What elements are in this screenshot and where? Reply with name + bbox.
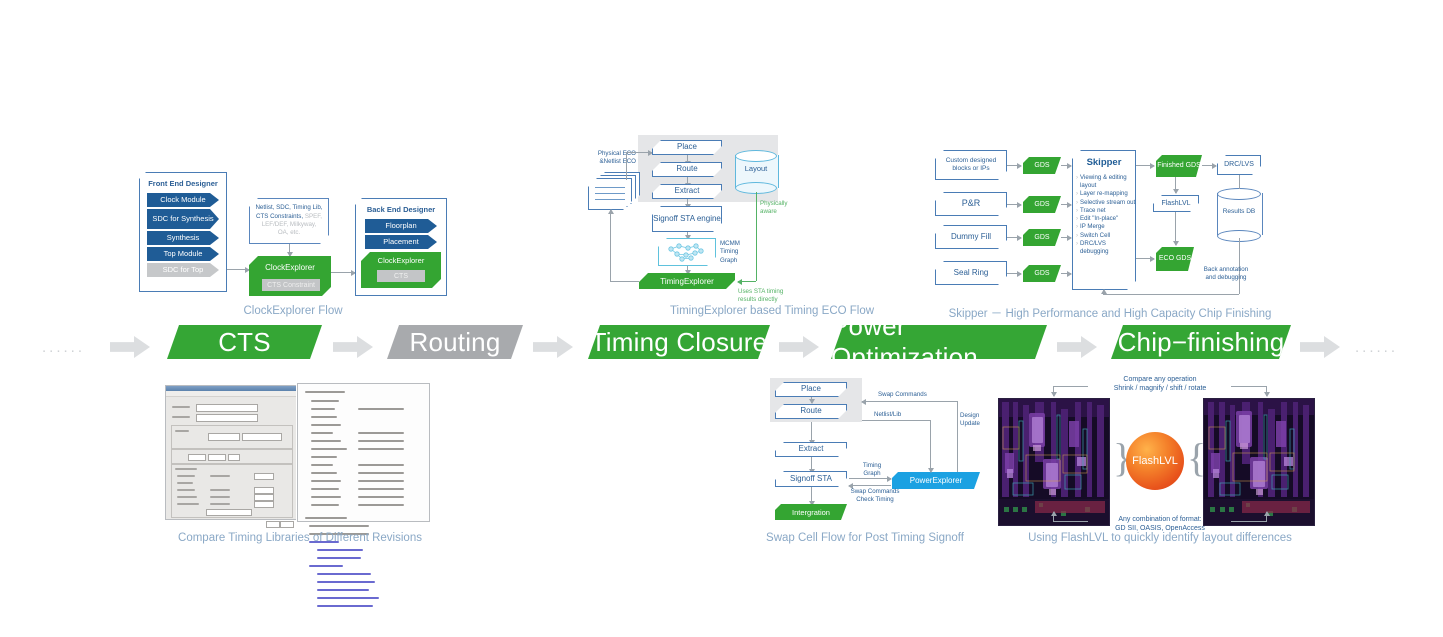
flashlvl-bottom-note: Any combination of format: GD SII, OASIS… <box>1080 516 1240 534</box>
connector-gds2-skipper <box>1061 204 1071 205</box>
step-arrow-2 <box>533 336 573 358</box>
clockexplorer-cts-constraint-label: CTS Constraint <box>267 282 315 289</box>
connector-sta-graph <box>687 232 688 239</box>
stage-route[interactable]: Route <box>652 162 722 177</box>
flashlvl-top-note-l1: Compare any operation <box>1123 376 1196 383</box>
banner-step-power-optimization[interactable]: Power Optimization <box>831 325 1047 359</box>
connector-src1-gds <box>1007 165 1021 166</box>
layout-database: Layout <box>735 150 777 192</box>
step-arrow-5 <box>1300 336 1340 358</box>
back-annotation-note: Back annotationand debugging <box>1191 266 1261 282</box>
connector-bottom-h2 <box>1231 521 1266 522</box>
bullet-icon: › <box>1076 223 1078 231</box>
skipper-flow: Custom designed blocks or IPs P&R Dummy … <box>935 148 1260 298</box>
eco-gds-block[interactable]: ECO GDS <box>1156 247 1194 271</box>
clockexplorer-tool-label: ClockExplorer <box>249 263 331 272</box>
swap-integration-label: Intergration <box>792 508 830 517</box>
connector-swap-extract-sta <box>811 457 812 473</box>
front-end-item-top-module[interactable]: Top Module <box>147 247 219 261</box>
swap-stage-route[interactable]: Route <box>775 404 847 419</box>
skipper-caption: Skipper － High Performance and High Capa… <box>900 305 1320 321</box>
powerexplorer-block[interactable]: PowerExplorer <box>892 472 980 489</box>
diagram-canvas: Front End Designer Clock Module SDC for … <box>0 0 1443 637</box>
swap-cell-flow: Place Route Extract Signoff STA Intergra… <box>770 378 985 528</box>
flashlvl-caption: Using FlashLVL to quickly identify layou… <box>1000 532 1320 544</box>
back-end-designer-title: Back End Designer <box>355 205 447 214</box>
connector-netlistlib-down <box>930 462 931 472</box>
flashlvl-compare: Compare any operation Shrink / magnify /… <box>995 376 1315 526</box>
gds-label: GDS <box>1034 270 1049 277</box>
connector-finished-drclvs <box>1202 165 1216 166</box>
swap-stage-place[interactable]: Place <box>775 382 847 397</box>
bullet-icon: › <box>1076 232 1078 240</box>
bullet-icon: › <box>1076 199 1078 207</box>
connector-gds1-skipper <box>1061 165 1071 166</box>
stage-extract[interactable]: Extract <box>652 184 722 199</box>
swap-stage-label: Place <box>801 385 821 393</box>
skipper-feature-list: ›Viewing & editing layout ›Layer re-mapp… <box>1076 174 1136 256</box>
skipper-feature: Selective stream out <box>1080 199 1135 207</box>
stage-place[interactable]: Place <box>652 140 722 155</box>
bullet-icon: › <box>1076 207 1078 215</box>
swap-cell-caption: Swap Cell Flow for Post Timing Signoff <box>720 532 1010 544</box>
clockexplorer-cts-constraint: CTS Constraint <box>262 279 320 291</box>
clockexplorer-tool-block[interactable]: ClockExplorer CTS Constraint <box>249 256 331 296</box>
label-swap-commands: Swap Commands <box>878 391 927 398</box>
mcmm-timing-graph-label: MCMM Timing Graph <box>720 240 740 265</box>
connector-netlistlib-h <box>862 420 930 421</box>
connector-feedback-h <box>610 281 639 282</box>
bullet-icon: › <box>1076 190 1078 198</box>
layout-db-label: Layout <box>735 164 777 173</box>
connector-drclvs-db <box>1239 175 1240 189</box>
signoff-sta-label: Signoff STA engine <box>653 214 721 223</box>
connector-inputs-to-tool <box>289 244 290 256</box>
gds-block-3[interactable]: GDS <box>1023 229 1061 246</box>
swap-stage-extract[interactable]: Extract <box>775 442 847 457</box>
eco-docs-lines <box>595 187 625 200</box>
connector-skipper-finished <box>1136 165 1154 166</box>
skipper-source-label: Seal Ring <box>954 269 989 277</box>
flashlvl-top-note: Compare any operation Shrink / magnify /… <box>1080 376 1240 394</box>
mcmm-line-1: MCMM <box>720 240 740 247</box>
flashlvl-bottom-note-l2: GD SII, OASIS, OpenAccess <box>1115 525 1205 532</box>
back-end-item-floorplan[interactable]: Floorplan <box>365 219 437 233</box>
data-inputs-strong: Netlist, SDC, Timing Lib, <box>255 204 322 211</box>
banner-step-cts[interactable]: CTS <box>167 325 322 359</box>
connector-flashlvl-eco <box>1175 212 1176 245</box>
connector-bottom-right-up <box>1266 512 1267 522</box>
library-compare-dialog-screenshot[interactable] <box>165 385 299 520</box>
connector-designupdate-h <box>862 401 957 402</box>
front-end-item-label: SDC for Top <box>163 266 204 274</box>
back-end-tool-label: ClockExplorer <box>361 256 441 265</box>
step-arrow-1 <box>333 336 373 358</box>
swap-stage-label: Route <box>800 407 821 415</box>
swap-stage-label: Signoff STA <box>790 475 832 483</box>
gds-block-2[interactable]: GDS <box>1023 196 1061 213</box>
back-end-item-label: Floorplan <box>385 222 416 230</box>
connector-src2-gds <box>1007 204 1021 205</box>
results-db: Results DB <box>1217 188 1261 240</box>
connector-skipper-eco <box>1136 258 1154 259</box>
connector-sta-to-power <box>849 478 891 479</box>
finished-gds-label: Finished GDS <box>1157 162 1201 170</box>
back-end-cts-label: CTS <box>394 273 408 280</box>
note-uses-sta: Uses STA timingresults directly <box>738 288 798 304</box>
front-end-item-label: SDC for Synthesis <box>152 215 213 223</box>
connector-top-right-down <box>1266 386 1267 396</box>
connector-gds4-skipper <box>1061 273 1071 274</box>
layout-left-render <box>999 399 1109 525</box>
back-end-item-placement[interactable]: Placement <box>365 235 437 249</box>
layout-image-right[interactable] <box>1203 398 1315 526</box>
connector-swap-cmd-arrow <box>862 401 863 402</box>
back-end-cts-chip: CTS <box>377 270 425 282</box>
flashlvl-ball[interactable]: FlashLVL <box>1126 432 1184 490</box>
skipper-feature: Trace net <box>1080 207 1106 215</box>
powerexplorer-label: PowerExplorer <box>910 476 962 485</box>
bullet-icon: › <box>1076 215 1078 223</box>
stage-place-label: Place <box>677 143 697 151</box>
connector-bottom-h <box>1053 521 1088 522</box>
front-end-item-sdc-top[interactable]: SDC for Top <box>147 263 219 277</box>
connector-bottom-left-up <box>1053 512 1054 522</box>
connector-finished-flashlvl <box>1175 177 1176 193</box>
data-inputs-strong2: CTS Constraints, <box>256 213 303 220</box>
skipper-source-dummy-fill[interactable]: Dummy Fill <box>935 225 1007 249</box>
banner-step-routing[interactable]: Routing <box>387 325 523 359</box>
step-arrow-3 <box>779 336 819 358</box>
connector-swap-route-extract <box>811 422 812 444</box>
banner-step-label: Routing <box>409 327 500 358</box>
label-swap-check-timing: Swap CommandsCheck Timing <box>840 488 910 504</box>
compare-libs-caption: Compare Timing Libraries of Different Re… <box>150 532 450 544</box>
skipper-feature: Switch Cell <box>1080 232 1110 240</box>
connector-tool-to-backend <box>331 272 355 273</box>
back-end-clockexplorer-block[interactable]: ClockExplorer CTS <box>361 252 441 288</box>
trailing-dots: ...... <box>1355 339 1398 356</box>
signoff-sta-engine[interactable]: Signoff STA engine <box>652 206 722 232</box>
layout-image-left[interactable] <box>998 398 1110 526</box>
banner-step-label: CTS <box>218 327 271 358</box>
results-db-label: Results DB <box>1217 208 1261 215</box>
connector-graph-to-tool <box>687 266 688 274</box>
note-physically-aware: Physicallyaware <box>760 200 804 216</box>
flashlvl-block[interactable]: FlashLVL <box>1153 195 1199 212</box>
skipper-source-pnr[interactable]: P&R <box>935 192 1007 216</box>
mcmm-line-2: Timing <box>720 248 738 255</box>
clockexplorer-caption: ClockExplorer Flow <box>139 305 447 317</box>
flashlvl-label: FlashLVL <box>1161 200 1190 207</box>
connector-backannot-h <box>1103 294 1239 295</box>
banner-step-chip-finishing[interactable]: Chip−finishing <box>1111 325 1291 359</box>
front-end-item-sdc-synthesis[interactable]: SDC for Synthesis <box>147 209 219 229</box>
connector-top-h <box>1053 386 1088 387</box>
stage-extract-label: Extract <box>675 187 700 195</box>
connector-power-to-sta <box>849 485 891 486</box>
eco-label-line2: &Netlist ECO <box>600 158 636 165</box>
data-inputs-box: Netlist, SDC, Timing Lib, CTS Constraint… <box>249 198 329 244</box>
clockexplorer-flow: Front End Designer Clock Module SDC for … <box>139 172 447 292</box>
front-end-designer-title: Front End Designer <box>139 179 227 188</box>
layout-right-render <box>1204 399 1314 525</box>
label-netlist-lib: Netlist/Lib <box>874 411 901 418</box>
skipper-source-label: Dummy Fill <box>951 233 991 241</box>
front-end-item-clock-module[interactable]: Clock Module <box>147 193 219 207</box>
banner-step-label: Chip−finishing <box>1118 327 1285 358</box>
eco-gds-label: ECO GDS <box>1159 255 1191 263</box>
bullet-icon: › <box>1076 240 1078 256</box>
banner-step-label: Timing Closure <box>591 327 768 358</box>
connector-frontend-to-tool <box>227 269 249 270</box>
gds-label: GDS <box>1034 162 1049 169</box>
flashlvl-top-note-l2: Shrink / magnify / shift / rotate <box>1114 385 1207 392</box>
timing-graph-icon <box>665 242 709 262</box>
skipper-tool-title: Skipper <box>1072 157 1136 168</box>
connector-gds3-skipper <box>1061 237 1071 238</box>
connector-docs-to-place <box>626 152 652 153</box>
banner-step-timing-closure[interactable]: Timing Closure <box>588 325 770 359</box>
skipper-source-label: P&R <box>962 199 981 208</box>
connector-layout-green-h <box>738 281 756 282</box>
skipper-feature: Layer re-mapping <box>1080 190 1128 198</box>
front-end-item-synthesis[interactable]: Synthesis <box>147 231 219 245</box>
gds-label: GDS <box>1034 201 1049 208</box>
swap-stage-signoff-sta[interactable]: Signoff STA <box>775 471 847 487</box>
front-end-item-label: Clock Module <box>160 196 205 204</box>
step-arrow-0 <box>110 336 150 358</box>
timingexplorer-flow: Physical ECO &Netlist ECO Place Route Ex… <box>580 132 800 292</box>
finished-gds-block[interactable]: Finished GDS <box>1156 155 1202 177</box>
flow-banner: ...... CTS Routing Timing Closure Power … <box>0 325 1443 373</box>
bullet-icon: › <box>1076 174 1078 190</box>
drclvs-block[interactable]: DRC/LVS <box>1217 155 1261 175</box>
connector-src4-gds <box>1007 273 1021 274</box>
mcmm-line-3: Graph <box>720 257 737 264</box>
skipper-source-label: Custom designed blocks or IPs <box>936 157 1006 173</box>
library-compare-report-screenshot[interactable] <box>297 383 430 522</box>
gds-block-4[interactable]: GDS <box>1023 265 1061 282</box>
flashlvl-bottom-note-l1: Any combination of format: <box>1118 516 1201 523</box>
skipper-feature: IP Merge <box>1080 223 1105 231</box>
connector-layout-green-v <box>756 192 757 281</box>
skipper-feature: Viewing & editing layout <box>1080 174 1136 190</box>
connector-feedback-v <box>610 210 611 281</box>
front-end-item-label: Top Module <box>164 250 203 258</box>
connector-swap-sta-integration <box>811 487 812 505</box>
skipper-feature: Edit "In-place" <box>1080 215 1118 223</box>
connector-src3-gds <box>1007 237 1021 238</box>
timingexplorer-tool-label: TimingExplorer <box>660 277 714 286</box>
brace-right-icon: { <box>1187 438 1206 478</box>
gds-block-1[interactable]: GDS <box>1023 157 1061 174</box>
swap-integration-block[interactable]: Intergration <box>775 504 847 520</box>
connector-top-h2 <box>1231 386 1266 387</box>
connector-top-left-down <box>1053 386 1054 396</box>
label-timing-graph: TimingGraph <box>856 462 888 478</box>
stage-route-label: Route <box>676 165 697 173</box>
connector-designupdate-v <box>957 401 958 472</box>
front-end-item-label: Synthesis <box>167 234 200 242</box>
skipper-feature: DRC/LVS debugging <box>1080 240 1136 256</box>
back-end-item-label: Placement <box>383 238 418 246</box>
timingexplorer-tool-block[interactable]: TimingExplorer <box>639 273 735 289</box>
label-design-update: DesignUpdate <box>960 412 980 428</box>
drclvs-label: DRC/LVS <box>1224 161 1254 168</box>
connector-docs-up <box>626 152 627 180</box>
leading-dots: ...... <box>42 339 85 356</box>
swap-stage-label: Extract <box>799 445 824 453</box>
gds-label: GDS <box>1034 234 1049 241</box>
skipper-source-seal-ring[interactable]: Seal Ring <box>935 261 1007 285</box>
skipper-source-custom-ip[interactable]: Custom designed blocks or IPs <box>935 150 1007 180</box>
connector-swap-place-route <box>811 397 812 403</box>
step-arrow-4 <box>1057 336 1097 358</box>
connector-backannot-up <box>1103 290 1104 295</box>
flashlvl-ball-label: FlashLVL <box>1132 455 1178 467</box>
